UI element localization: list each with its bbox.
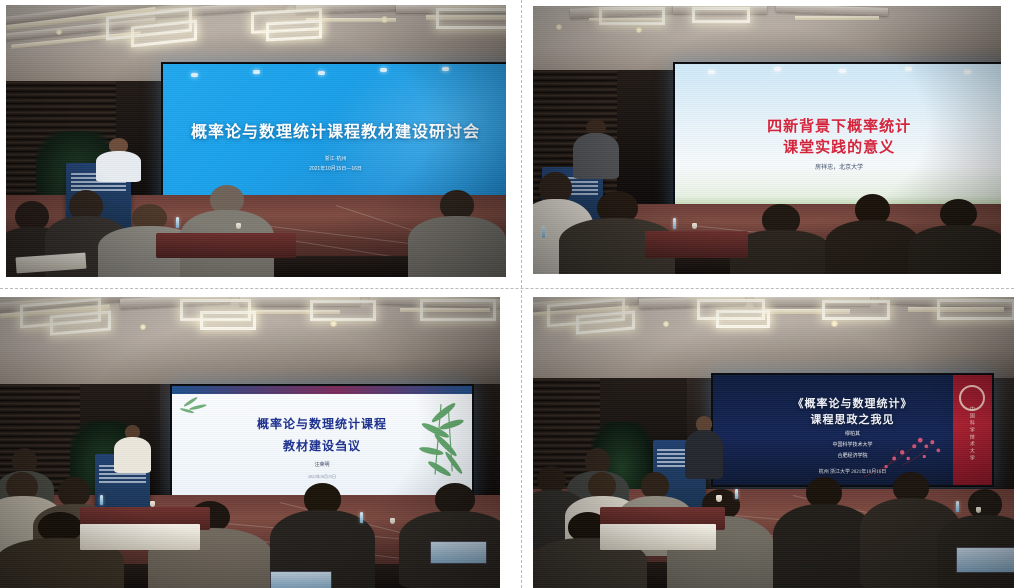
- panel-top-left: 概率论与数理统计课程教材建设研讨会 浙江·杭州 2021年10月15日—16日: [6, 5, 506, 277]
- led-screen: 中国科学技术大学: [711, 373, 994, 488]
- panel-bottom-right: 中国科学技术大学: [533, 297, 1014, 588]
- speaker: [687, 416, 721, 477]
- slide-footnote: 2021年10月15日: [172, 474, 472, 480]
- tea-cup: [150, 501, 155, 507]
- water-bottle: [360, 512, 363, 523]
- tea-cup: [716, 495, 722, 502]
- slide-byline-university: 中国科学技术大学: [713, 441, 992, 448]
- water-bottle: [956, 501, 959, 512]
- collage-separator-horizontal: [0, 288, 1014, 289]
- audience-table: [645, 231, 748, 258]
- slide-byline-name: 缪柏其: [713, 430, 992, 437]
- tea-cup: [976, 507, 981, 513]
- photo-collage: 概率论与数理统计课程教材建设研讨会 浙江·杭州 2021年10月15日—16日: [0, 0, 1014, 588]
- ceiling: [533, 297, 1014, 384]
- table-cloth: [80, 524, 200, 550]
- slide-subtitle-date: 2021年10月15日—16日: [163, 165, 506, 172]
- slide-byline: 汪荣明: [172, 461, 472, 468]
- audience-member: [833, 194, 913, 274]
- water-bottle: [735, 489, 738, 499]
- audience-member: [410, 483, 500, 582]
- audience-member: [917, 199, 1001, 274]
- slide-subtitle-location: 浙江·杭州: [163, 155, 506, 162]
- laptop: [956, 547, 1014, 572]
- tea-cup: [236, 223, 241, 229]
- led-screen: 概率论与数理统计课程 教材建设刍议 汪荣明 2021年10月15日: [170, 384, 474, 499]
- panel-top-right: 四新背景下概率统计 课堂实践的意义 房祥忠，北京大学: [533, 6, 1001, 274]
- slide-title-line-2: 课堂实践的意义: [675, 136, 1001, 157]
- laptop: [430, 541, 487, 563]
- slide-title-line-1: 四新背景下概率统计: [675, 115, 1001, 136]
- audience-member: [739, 204, 823, 274]
- audience-member: [416, 190, 496, 277]
- slide-title-line-1: 概率论与数理统计课程: [172, 415, 472, 432]
- slide-title-line-1: 《概率论与数理统计》: [713, 395, 992, 411]
- laptop: [270, 571, 332, 588]
- water-bottle: [176, 217, 179, 228]
- slide-title: 概率论与数理统计课程教材建设研讨会: [163, 118, 506, 142]
- speaker: [96, 138, 141, 182]
- tea-cup: [390, 518, 395, 524]
- water-bottle: [100, 495, 103, 505]
- water-bottle: [542, 226, 545, 238]
- audience-member: [186, 185, 266, 277]
- panel-bottom-left: 概率论与数理统计课程 教材建设刍议 汪荣明 2021年10月15日: [0, 297, 500, 588]
- slide-title-line-2: 课程思政之我见: [713, 411, 992, 427]
- water-bottle: [673, 218, 676, 229]
- slide-byline-school: 合肥经济学院: [713, 452, 992, 459]
- slide-title-line-2: 教材建设刍议: [172, 437, 472, 454]
- table-cloth: [600, 524, 715, 550]
- speaker: [575, 119, 617, 178]
- audience-member: [783, 477, 865, 588]
- speaker: [115, 425, 150, 472]
- audience-table: [156, 233, 296, 257]
- collage-separator-vertical: [521, 0, 522, 588]
- ceiling: [0, 297, 500, 387]
- slide-byline: 房祥忠，北京大学: [675, 162, 1001, 171]
